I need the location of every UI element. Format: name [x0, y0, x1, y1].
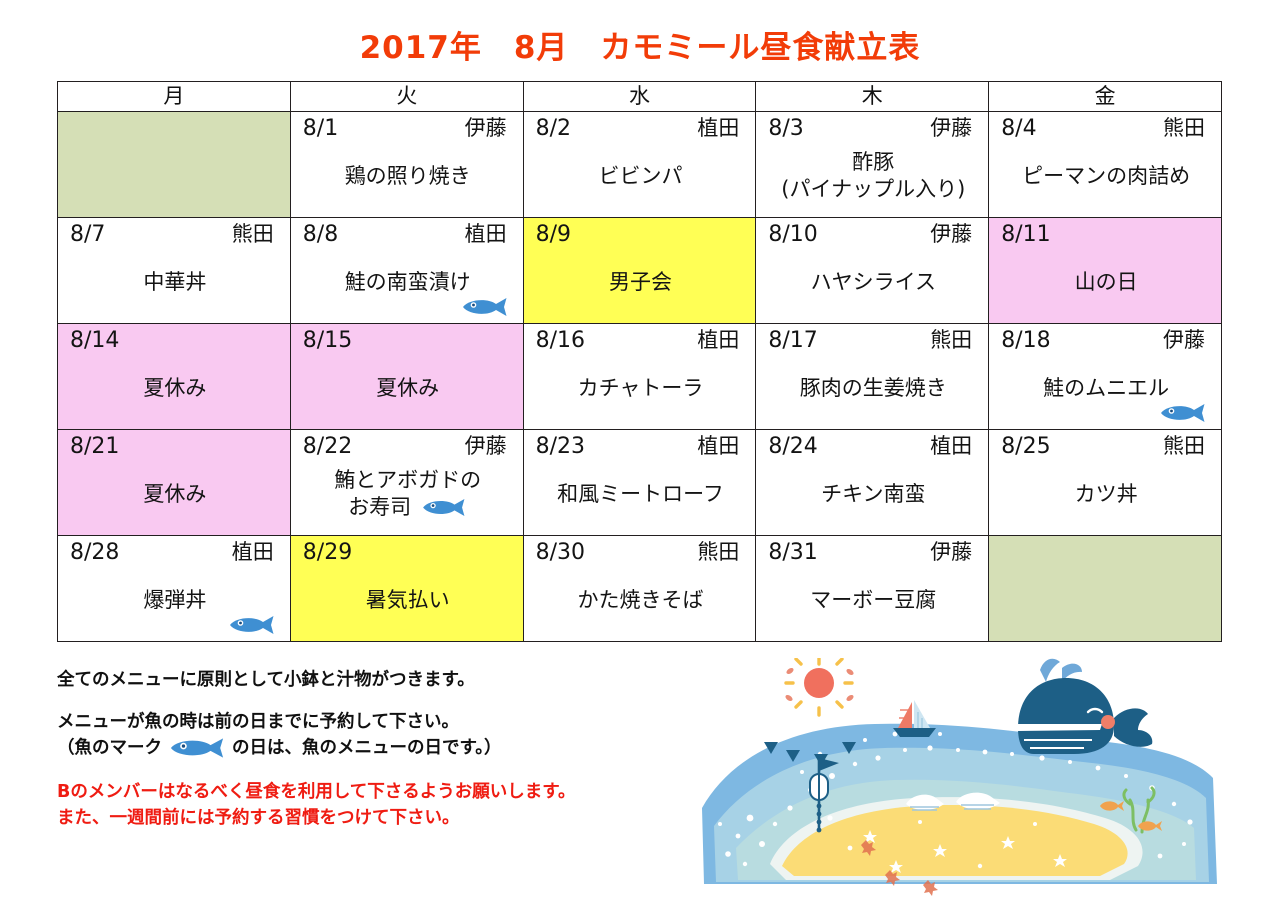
cell-menu-line: 鮪とアボガドの: [334, 467, 481, 494]
cell-cook: 植田: [697, 117, 745, 141]
weekday-header-thu: 木: [756, 82, 989, 112]
cell-date-line: 8/10伊藤: [768, 223, 978, 248]
note-fish-legend-after: の日は、魚のメニューの日です。）: [232, 736, 502, 761]
cell-menu: チキン南蛮: [768, 460, 978, 531]
cell-cook: 植田: [232, 541, 280, 565]
calendar-week-row: 8/21夏休み8/22伊藤鮪とアボガドのお寿司8/23植田和風ミートローフ8/2…: [58, 430, 1222, 536]
cell-menu-line: 豚肉の生姜焼き: [800, 375, 947, 402]
cell-cook: 熊田: [232, 223, 280, 247]
whale-icon: [1018, 659, 1152, 754]
cell-date-line: 8/4熊田: [1001, 117, 1211, 142]
cell-cook: 植田: [697, 329, 745, 353]
calendar-week-row: 8/28植田爆弾丼8/29暑気払い8/30熊田かた焼きそば8/31伊藤マーボー豆…: [58, 536, 1222, 642]
cell-date: 8/8: [303, 223, 338, 248]
menu-calendar-table: 月 火 水 木 金 8/1伊藤鶏の照り焼き8/2植田ビビンパ8/3伊藤酢豚(パイ…: [57, 81, 1222, 642]
cell-menu-line: チキン南蛮: [821, 481, 925, 508]
cell-menu-line: (パイナップル入り): [781, 176, 965, 203]
cell-menu: カツ丼: [1001, 460, 1211, 531]
cell-date: 8/28: [70, 541, 119, 566]
cell-menu-line: 暑気払い: [366, 587, 450, 614]
calendar-cell-8-10[interactable]: 8/10伊藤ハヤシライス: [756, 218, 989, 324]
cell-menu: 夏休み: [70, 460, 280, 531]
cell-date-line: 8/28植田: [70, 541, 280, 566]
cell-menu: 中華丼: [70, 248, 280, 319]
calendar-cell-8-25[interactable]: 8/25熊田カツ丼: [989, 430, 1222, 536]
cell-date: 8/23: [536, 435, 585, 460]
cell-date-line: 8/21: [70, 435, 280, 460]
cell-menu: ピーマンの肉詰め: [1001, 142, 1211, 213]
calendar-cell-8-9[interactable]: 8/9男子会: [523, 218, 756, 324]
cell-date-line: 8/9: [536, 223, 746, 248]
cell-date-line: 8/17熊田: [768, 329, 978, 354]
weekday-header-tue: 火: [290, 82, 523, 112]
cell-cook: 伊藤: [465, 435, 513, 459]
calendar-cell-8-14[interactable]: 8/14夏休み: [58, 324, 291, 430]
cell-date-line: 8/22伊藤: [303, 435, 513, 460]
note-b-member-request: Bのメンバーはなるべく昼食を利用して下さるようお願いします。: [57, 780, 707, 805]
cell-menu: かた焼きそば: [536, 566, 746, 637]
calendar-cell-8-29[interactable]: 8/29暑気払い: [290, 536, 523, 642]
cell-date: 8/3: [768, 117, 803, 142]
cell-cook: 伊藤: [465, 117, 513, 141]
note-week-ahead-reservation: また、一週間前には予約する習慣をつけて下さい。: [57, 806, 707, 831]
cell-menu: カチャトーラ: [536, 354, 746, 425]
cell-menu-line: かた焼きそば: [577, 587, 703, 614]
cell-date: 8/2: [536, 117, 571, 142]
cell-menu-line: 夏休み: [376, 375, 439, 402]
note-side-dishes: 全てのメニューに原則として小鉢と汁物がつきます。: [57, 668, 707, 693]
calendar-cell-8-28[interactable]: 8/28植田爆弾丼: [58, 536, 291, 642]
cell-date: 8/9: [536, 223, 571, 248]
cell-date: 8/21: [70, 435, 119, 460]
cell-date-line: 8/2植田: [536, 117, 746, 142]
calendar-cell-8-18[interactable]: 8/18伊藤鮭のムニエル: [989, 324, 1222, 430]
calendar-week-row: 8/1伊藤鶏の照り焼き8/2植田ビビンパ8/3伊藤酢豚(パイナップル入り)8/4…: [58, 112, 1222, 218]
cell-menu: 酢豚(パイナップル入り): [768, 142, 978, 213]
cell-menu-line: 鮭の南蛮漬け: [345, 269, 471, 296]
cell-date-line: 8/18伊藤: [1001, 329, 1211, 354]
sailboat-icon: [893, 700, 936, 737]
calendar-cell-8-8[interactable]: 8/8植田鮭の南蛮漬け: [290, 218, 523, 324]
weekday-header-mon: 月: [58, 82, 291, 112]
cell-date: 8/1: [303, 117, 338, 142]
calendar-cell-empty[interactable]: [58, 112, 291, 218]
cell-menu-line: カチャトーラ: [578, 375, 704, 402]
calendar-week-row: 8/14夏休み8/15夏休み8/16植田カチャトーラ8/17熊田豚肉の生姜焼き8…: [58, 324, 1222, 430]
cell-date: 8/30: [536, 541, 585, 566]
cell-menu: 暑気払い: [303, 566, 513, 637]
cell-date-line: 8/16植田: [536, 329, 746, 354]
cell-date-line: 8/24植田: [768, 435, 978, 460]
cell-date: 8/17: [768, 329, 817, 354]
cell-date: 8/29: [303, 541, 352, 566]
cell-menu: マーボー豆腐: [768, 566, 978, 637]
calendar-cell-8-1[interactable]: 8/1伊藤鶏の照り焼き: [290, 112, 523, 218]
cell-menu-line: お寿司: [348, 494, 411, 521]
calendar-cell-8-3[interactable]: 8/3伊藤酢豚(パイナップル入り): [756, 112, 989, 218]
calendar-cell-8-7[interactable]: 8/7熊田中華丼: [58, 218, 291, 324]
cell-date: 8/25: [1001, 435, 1050, 460]
cell-menu: 男子会: [536, 248, 746, 319]
calendar-week-row: 8/7熊田中華丼8/8植田鮭の南蛮漬け8/9男子会8/10伊藤ハヤシライス8/1…: [58, 218, 1222, 324]
fish-icon: [168, 737, 226, 759]
cell-menu-line: 和風ミートローフ: [557, 481, 724, 508]
calendar-cell-8-11[interactable]: 8/11山の日: [989, 218, 1222, 324]
cell-date: 8/31: [768, 541, 817, 566]
cell-menu: 夏休み: [303, 354, 513, 425]
cell-menu-line: カツ丼: [1075, 481, 1138, 508]
cell-menu: 和風ミートローフ: [536, 460, 746, 531]
cell-cook: 熊田: [697, 541, 745, 565]
calendar-cell-empty[interactable]: [989, 536, 1222, 642]
cell-cook: 伊藤: [930, 117, 978, 141]
calendar-cell-8-16[interactable]: 8/16植田カチャトーラ: [523, 324, 756, 430]
calendar-cell-8-23[interactable]: 8/23植田和風ミートローフ: [523, 430, 756, 536]
calendar-cell-8-15[interactable]: 8/15夏休み: [290, 324, 523, 430]
cell-menu-line: 鮭のムニエル: [1043, 375, 1169, 402]
cell-cook: 伊藤: [1163, 329, 1211, 353]
cell-menu-line: 鶏の照り焼き: [345, 163, 471, 190]
cell-cook: 熊田: [1163, 435, 1211, 459]
cell-menu: ビビンパ: [536, 142, 746, 213]
cell-menu-line: 夏休み: [143, 375, 206, 402]
cell-menu: ハヤシライス: [768, 248, 978, 319]
cell-date: 8/18: [1001, 329, 1050, 354]
cell-cook: 熊田: [930, 329, 978, 353]
sun-icon: [784, 658, 854, 715]
cell-date: 8/16: [536, 329, 585, 354]
calendar-cell-8-21[interactable]: 8/21夏休み: [58, 430, 291, 536]
cell-cook: 伊藤: [930, 541, 978, 565]
fish-icon: [1159, 403, 1207, 423]
cell-date-line: 8/25熊田: [1001, 435, 1211, 460]
cell-menu-line: ピーマンの肉詰め: [1022, 163, 1190, 190]
cell-date-line: 8/15: [303, 329, 513, 354]
cell-menu-line: ビビンパ: [598, 163, 682, 190]
cell-cook: 植田: [465, 223, 513, 247]
cell-date-line: 8/11: [1001, 223, 1211, 248]
calendar-cell-8-31[interactable]: 8/31伊藤マーボー豆腐: [756, 536, 989, 642]
cell-date-line: 8/14: [70, 329, 280, 354]
cell-menu: 山の日: [1001, 248, 1211, 319]
calendar-cell-8-22[interactable]: 8/22伊藤鮪とアボガドのお寿司: [290, 430, 523, 536]
cell-menu: 夏休み: [70, 354, 280, 425]
weekday-header-fri: 金: [989, 82, 1222, 112]
calendar-cell-8-2[interactable]: 8/2植田ビビンパ: [523, 112, 756, 218]
cell-date: 8/14: [70, 329, 119, 354]
fish-icon: [421, 498, 467, 517]
cell-cook: 伊藤: [930, 223, 978, 247]
cell-date: 8/24: [768, 435, 817, 460]
cell-date: 8/11: [1001, 223, 1050, 248]
cell-menu-line: 男子会: [609, 269, 672, 296]
cell-date-line: 8/3伊藤: [768, 117, 978, 142]
note-fish-reservation: メニューが魚の時は前の日までに予約して下さい。: [57, 710, 707, 735]
cell-cook: 植田: [930, 435, 978, 459]
cell-date: 8/4: [1001, 117, 1036, 142]
cell-menu: 豚肉の生姜焼き: [768, 354, 978, 425]
cell-cook: 植田: [697, 435, 745, 459]
cell-date-line: 8/31伊藤: [768, 541, 978, 566]
fish-icon: [228, 615, 276, 635]
footer-notes: 全てのメニューに原則として小鉢と汁物がつきます。 メニューが魚の時は前の日までに…: [57, 668, 707, 831]
summer-beach-illustration: [690, 658, 1230, 903]
cell-date: 8/7: [70, 223, 105, 248]
note-fish-mark-legend: （魚のマーク の日は、魚のメニューの日です。）: [57, 736, 707, 761]
note-fish-legend-before: （魚のマーク: [57, 736, 162, 761]
cell-cook: 熊田: [1163, 117, 1211, 141]
cell-date: 8/15: [303, 329, 352, 354]
cell-date-line: 8/29: [303, 541, 513, 566]
cell-menu-line: 山の日: [1075, 269, 1138, 296]
cell-date-line: 8/23植田: [536, 435, 746, 460]
cell-date-line: 8/30熊田: [536, 541, 746, 566]
weekday-header-wed: 水: [523, 82, 756, 112]
cell-menu: 鮪とアボガドのお寿司: [303, 460, 513, 531]
cell-menu-line: マーボー豆腐: [810, 587, 936, 614]
calendar-cell-8-30[interactable]: 8/30熊田かた焼きそば: [523, 536, 756, 642]
cell-menu: 鶏の照り焼き: [303, 142, 513, 213]
cell-date: 8/22: [303, 435, 352, 460]
calendar-cell-8-17[interactable]: 8/17熊田豚肉の生姜焼き: [756, 324, 989, 430]
cell-menu-line: 爆弾丼: [143, 587, 206, 614]
cell-menu-line: 中華丼: [143, 269, 206, 296]
cell-date-line: 8/8植田: [303, 223, 513, 248]
cell-date-line: 8/7熊田: [70, 223, 280, 248]
page-title: 2017年 8月 カモミール昼食献立表: [0, 22, 1280, 67]
cell-menu-line: ハヤシライス: [811, 269, 936, 296]
cell-menu-line: 夏休み: [143, 481, 206, 508]
weekday-header-row: 月 火 水 木 金: [58, 82, 1222, 112]
cell-menu-line: 酢豚: [852, 149, 894, 176]
fish-icon: [461, 297, 509, 317]
calendar-cell-8-4[interactable]: 8/4熊田ピーマンの肉詰め: [989, 112, 1222, 218]
calendar-cell-8-24[interactable]: 8/24植田チキン南蛮: [756, 430, 989, 536]
cell-date: 8/10: [768, 223, 817, 248]
cell-date-line: 8/1伊藤: [303, 117, 513, 142]
